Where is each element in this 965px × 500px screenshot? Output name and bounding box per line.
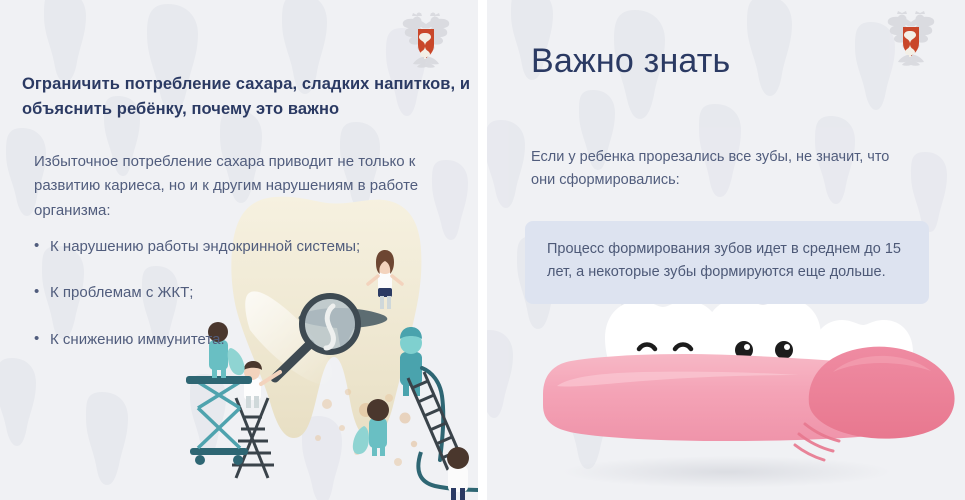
left-panel-body: Избыточное потребление сахара приводит н… [34,150,452,223]
callout-box: Процесс формирования зубов идет в средне… [525,221,929,304]
right-panel-intro: Если у ребенка прорезались все зубы, не … [531,146,891,193]
panel-divider [478,0,487,500]
right-panel-heading: Важно знать [531,43,730,80]
list-item: К снижению иммунитета. [34,330,464,350]
left-panel-heading: Ограничить потребление сахара, сладких н… [22,72,472,122]
left-panel-bullet-list: К нарушению работы эндокринной системы; … [34,237,464,350]
right-slide-panel: Важно знать Если у ребенка прорезались в… [487,0,965,500]
list-item: К нарушению работы эндокринной системы; [34,237,464,257]
ministry-emblem-left [400,12,452,70]
ministry-emblem-right [885,10,937,68]
list-item: К проблемам с ЖКТ; [34,283,464,303]
slide-deck: Ограничить потребление сахара, сладких н… [0,0,965,500]
left-slide-panel: Ограничить потребление сахара, сладких н… [0,0,478,500]
